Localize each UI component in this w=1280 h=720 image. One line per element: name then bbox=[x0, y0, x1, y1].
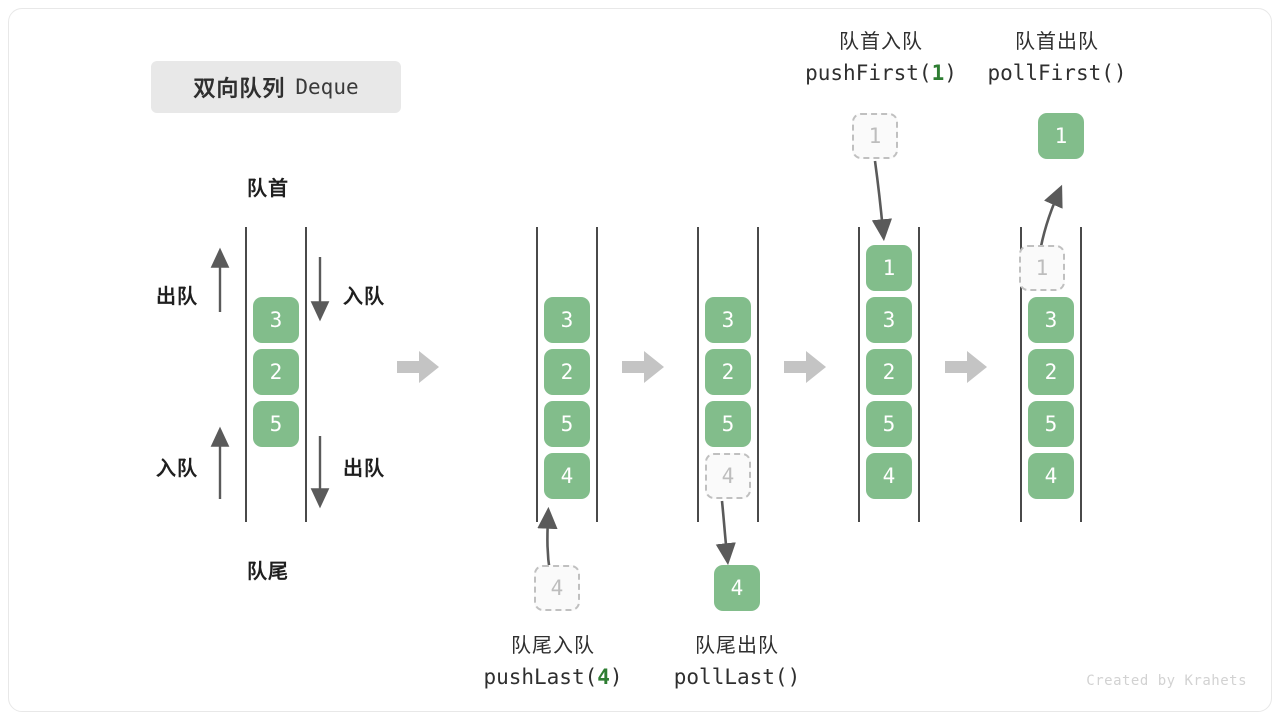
cell: 3 bbox=[866, 297, 912, 343]
code-suffix: ) bbox=[788, 665, 801, 689]
watermark: Created by Krahets bbox=[1086, 673, 1247, 689]
rail-left bbox=[697, 227, 699, 522]
rail-left bbox=[536, 227, 538, 522]
caption-push-last: 队尾入队 pushLast(4) bbox=[453, 631, 653, 693]
code-prefix: pollLast( bbox=[674, 665, 788, 689]
caption-cn: 队尾入队 bbox=[453, 631, 653, 661]
cell: 5 bbox=[705, 401, 751, 447]
rail-left bbox=[245, 227, 247, 522]
caption-poll-first: 队首出队 pollFirst() bbox=[957, 27, 1157, 89]
side-label-bottom-right: 出队 bbox=[343, 452, 385, 481]
caption-code: pollLast() bbox=[637, 661, 837, 693]
rear-label: 队尾 bbox=[247, 555, 289, 584]
cell: 3 bbox=[544, 297, 590, 343]
cell: 3 bbox=[705, 297, 751, 343]
code-prefix: pushLast( bbox=[483, 665, 597, 689]
rail-right bbox=[1080, 227, 1082, 522]
side-label-bottom-left: 入队 bbox=[156, 452, 198, 481]
rail-right bbox=[918, 227, 920, 522]
ghost-cell: 4 bbox=[705, 453, 751, 499]
side-label-top-right: 入队 bbox=[343, 280, 385, 309]
ghost-cell: 1 bbox=[852, 113, 898, 159]
poll-last-arrow bbox=[722, 501, 727, 555]
arrow-overlay bbox=[9, 9, 1272, 712]
code-suffix: ) bbox=[944, 61, 957, 85]
diagram-title: 双向队列 Deque bbox=[151, 61, 401, 113]
title-en: Deque bbox=[295, 75, 358, 99]
caption-cn: 队尾出队 bbox=[637, 631, 837, 661]
flow-arrow-4 bbox=[945, 351, 987, 383]
diagram-card: 双向队列 Deque bbox=[8, 8, 1272, 712]
cell: 4 bbox=[866, 453, 912, 499]
caption-push-first: 队首入队 pushFirst(1) bbox=[781, 27, 981, 89]
cell: 3 bbox=[253, 297, 299, 343]
flow-arrow-3 bbox=[784, 351, 826, 383]
cell: 4 bbox=[544, 453, 590, 499]
cell: 2 bbox=[866, 349, 912, 395]
caption-cn: 队首入队 bbox=[781, 27, 981, 57]
cell: 5 bbox=[253, 401, 299, 447]
front-label: 队首 bbox=[247, 172, 289, 201]
caption-cn: 队首出队 bbox=[957, 27, 1157, 57]
rail-right bbox=[305, 227, 307, 522]
flow-arrow-2 bbox=[622, 351, 664, 383]
title-cn: 双向队列 bbox=[193, 71, 285, 103]
rail-left bbox=[858, 227, 860, 522]
cell: 2 bbox=[253, 349, 299, 395]
rail-right bbox=[757, 227, 759, 522]
ghost-cell: 1 bbox=[1019, 245, 1065, 291]
cell: 4 bbox=[1028, 453, 1074, 499]
detached-cell: 1 bbox=[1038, 113, 1084, 159]
caption-code: pushLast(4) bbox=[453, 661, 653, 693]
cell: 5 bbox=[544, 401, 590, 447]
cell: 5 bbox=[866, 401, 912, 447]
rail-right bbox=[596, 227, 598, 522]
cell: 2 bbox=[1028, 349, 1074, 395]
code-suffix: ) bbox=[610, 665, 623, 689]
cell: 2 bbox=[705, 349, 751, 395]
caption-poll-last: 队尾出队 pollLast() bbox=[637, 631, 837, 693]
code-num: 4 bbox=[597, 665, 610, 689]
push-first-arrow bbox=[875, 161, 883, 231]
cell: 5 bbox=[1028, 401, 1074, 447]
side-label-top-left: 出队 bbox=[156, 280, 198, 309]
code-prefix: pushFirst( bbox=[805, 61, 931, 85]
code-prefix: pollFirst( bbox=[987, 61, 1113, 85]
cell: 2 bbox=[544, 349, 590, 395]
code-num: 1 bbox=[932, 61, 945, 85]
flow-arrow-1 bbox=[397, 351, 439, 383]
detached-cell: 4 bbox=[714, 565, 760, 611]
caption-code: pollFirst() bbox=[957, 57, 1157, 89]
cell: 1 bbox=[866, 245, 912, 291]
ghost-cell: 4 bbox=[534, 565, 580, 611]
cell: 3 bbox=[1028, 297, 1074, 343]
code-suffix: ) bbox=[1114, 61, 1127, 85]
caption-code: pushFirst(1) bbox=[781, 57, 981, 89]
